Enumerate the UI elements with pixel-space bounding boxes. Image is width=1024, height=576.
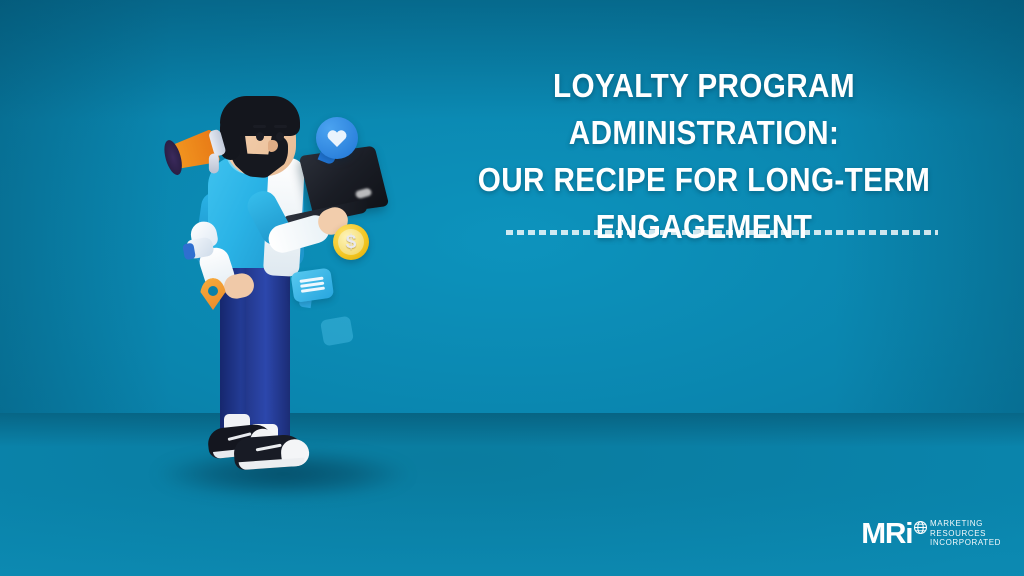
dollar-coin-icon: $ xyxy=(333,224,369,260)
eyebrow-right xyxy=(274,125,287,128)
megaphone-handle xyxy=(209,154,219,174)
slide-title: Loyalty Program Administration: Our Reci… xyxy=(434,62,974,250)
thumbs-up-icon xyxy=(179,219,225,263)
location-pin-icon xyxy=(200,278,226,312)
logo-tagline-line-1: MARKETING xyxy=(930,519,1001,529)
sneaker-front xyxy=(233,434,307,471)
wall-left-vignette xyxy=(0,0,170,413)
logo-wordmark: MRi xyxy=(861,520,912,549)
dollar-sign: $ xyxy=(333,224,369,260)
title-dashed-divider xyxy=(506,230,938,235)
chat-bubble-icon xyxy=(290,267,337,312)
hero-text-block: Loyalty Program Administration: Our Reci… xyxy=(404,62,1004,250)
logo-tagline-line-2: RESOURCES xyxy=(930,529,1001,539)
logo-tagline: MARKETING RESOURCES INCORPORATED xyxy=(930,519,1001,548)
logo-tagline-line-3: INCORPORATED xyxy=(930,538,1001,548)
eyebrow-left xyxy=(253,125,266,128)
location-pin-hole xyxy=(208,286,218,296)
slide-canvas: Loyalty Program Administration: Our Reci… xyxy=(0,0,1024,576)
heart-speech-bubble-icon xyxy=(316,117,362,167)
brand-logo: MRi MARKETING RESOURCES INCORPORATED xyxy=(862,516,992,558)
eye-right xyxy=(276,132,284,141)
sneaker-front-stripe xyxy=(256,444,282,452)
globe-icon xyxy=(914,521,927,534)
background-card-icon xyxy=(320,316,354,347)
eye-left xyxy=(256,132,264,141)
